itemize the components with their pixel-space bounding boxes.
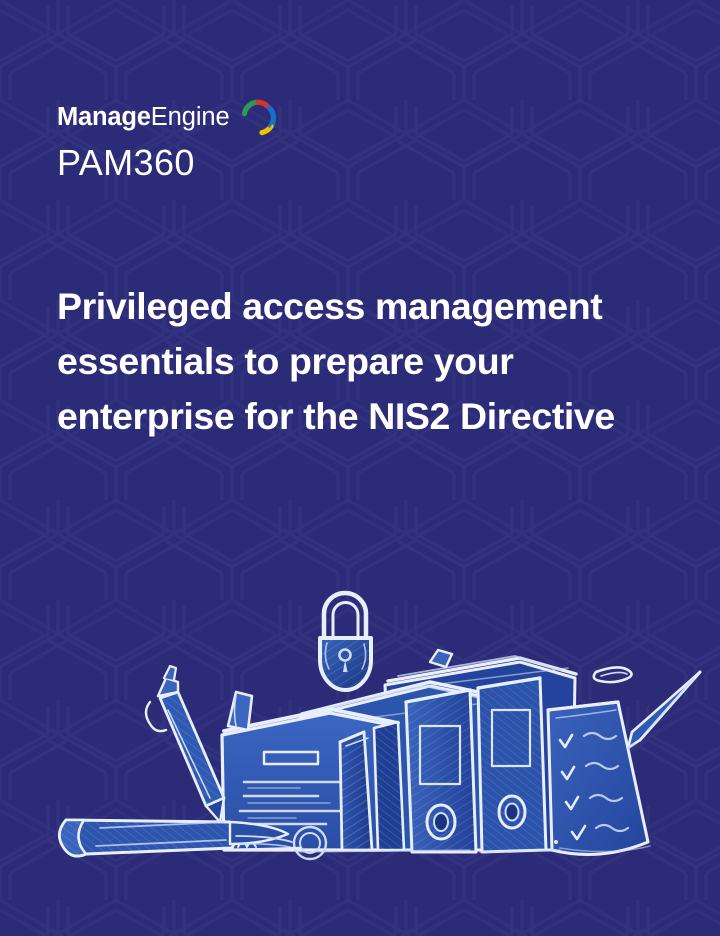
pen-right-icon [628, 672, 700, 748]
title-line-1: Privileged access management [57, 279, 697, 334]
binder-right-icon [478, 678, 546, 852]
pen-left-icon [146, 666, 224, 832]
page-title: Privileged access management essentials … [57, 279, 697, 444]
manageengine-swirl-icon [238, 95, 280, 137]
logo-wordmark: ManageEngine [57, 105, 230, 135]
padlock-icon [320, 593, 371, 690]
title-line-2: essentials to prepare your [57, 334, 697, 389]
binder-middle-icon [406, 690, 476, 852]
product-name: PAM360 [57, 144, 230, 182]
title-line-3: enterprise for the NIS2 Directive [57, 389, 697, 444]
logo-brand-first: Manage [57, 103, 151, 131]
cover-illustration [0, 550, 720, 880]
logo-brand-second: Engine [151, 103, 230, 131]
manageengine-logo: ManageEngine PAM360 [57, 105, 230, 182]
checklist-page-icon [548, 702, 648, 855]
cover-page: ManageEngine PAM360 Privileged access ma… [0, 0, 720, 936]
binder-thin-icon [374, 722, 404, 850]
paperclip-icon [594, 667, 632, 682]
